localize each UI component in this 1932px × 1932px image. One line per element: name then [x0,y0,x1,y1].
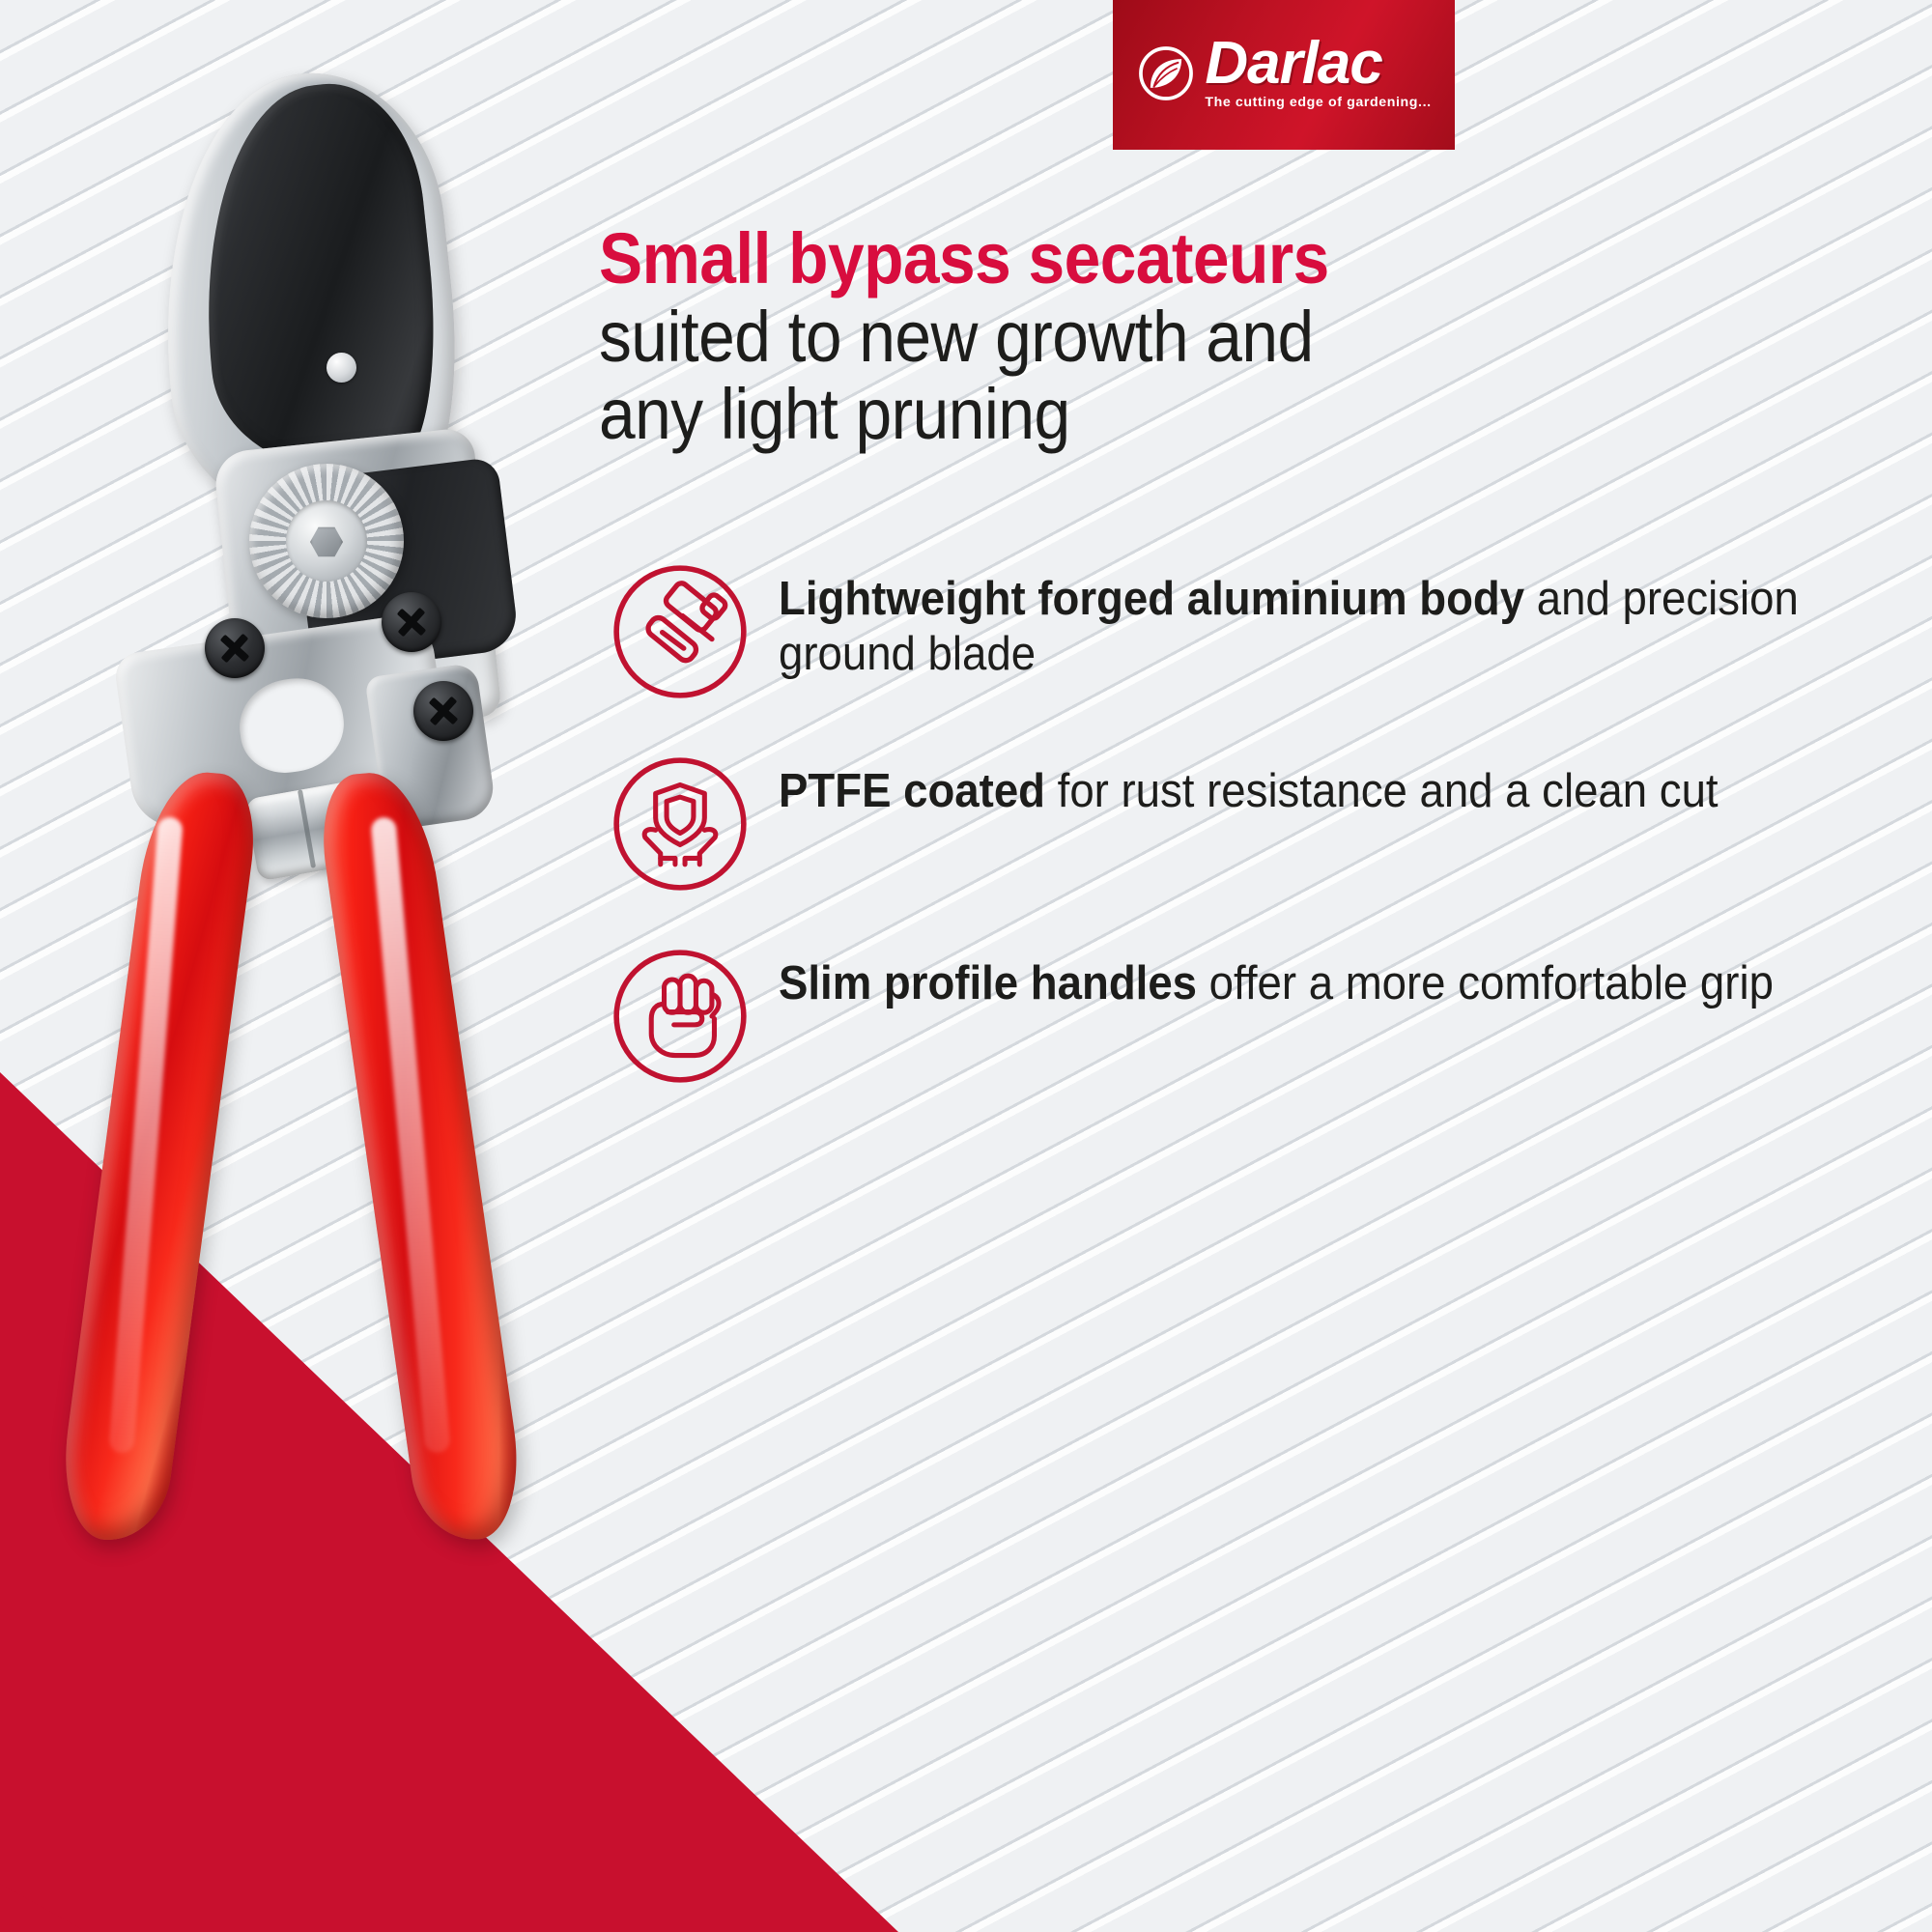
feature-text-bold: PTFE coated [779,765,1045,817]
brand-logo[interactable]: Darlac The cutting edge of gardening... [1113,0,1455,150]
infographic-canvas: Darlac The cutting edge of gardening... … [0,0,1932,1932]
feature-item: Lightweight forged aluminium body and pr… [607,558,1882,705]
headline-line-2: suited to new growth and [599,298,1775,377]
feature-icon-wrap [607,943,753,1090]
brand-name: Darlac [1205,36,1382,92]
page-title: Small bypass secateurs suited to new gro… [599,220,1884,454]
screw-icon [413,681,473,741]
feature-list: Lightweight forged aluminium body and pr… [607,558,1882,1135]
feature-text: Lightweight forged aluminium body and pr… [779,558,1804,682]
hammer-icon [607,558,753,705]
headline-line-3: any light pruning [599,376,1775,454]
shield-in-hands-icon [607,751,753,897]
feature-text-rest: offer a more comfortable grip [1197,957,1774,1009]
screw-icon [382,592,441,652]
feature-text-bold: Lightweight forged aluminium body [779,573,1524,625]
screw-icon [205,618,265,678]
leaf-in-circle-icon [1136,43,1196,103]
fist-grip-icon [607,943,753,1090]
feature-text-rest: for rust resistance and a clean cut [1045,765,1719,817]
feature-item: PTFE coated for rust resistance and a cl… [607,751,1882,897]
feature-icon-wrap [607,558,753,705]
feature-icon-wrap [607,751,753,897]
feature-text: Slim profile handles offer a more comfor… [779,943,1804,1011]
headline-line-1: Small bypass secateurs [599,220,1775,298]
brand-tagline: The cutting edge of gardening... [1205,95,1431,110]
product-image [58,53,599,1560]
feature-item: Slim profile handles offer a more comfor… [607,943,1882,1090]
feature-text-bold: Slim profile handles [779,957,1197,1009]
feature-text: PTFE coated for rust resistance and a cl… [779,751,1804,819]
blade-rivet [327,353,356,383]
